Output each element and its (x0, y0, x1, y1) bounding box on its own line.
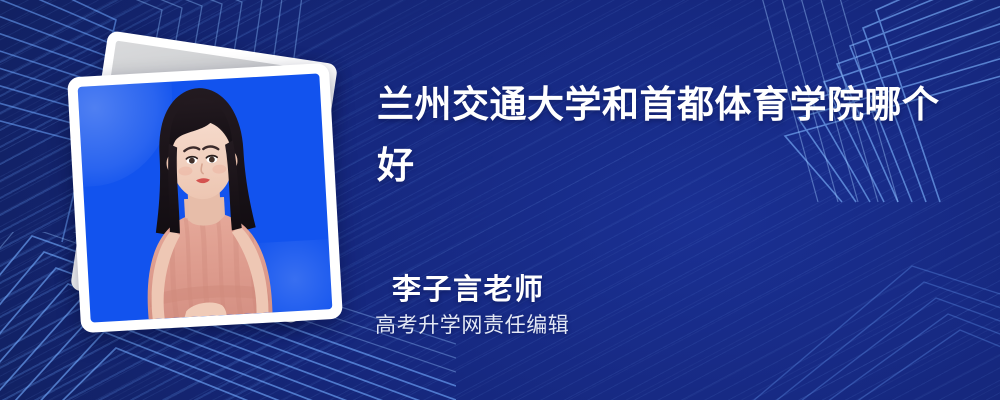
byline: 李子言老师 高考升学网责任编辑 (392, 272, 569, 340)
author-name: 李子言老师 (392, 272, 569, 308)
text-column: 兰州交通大学和首都体育学院哪个好 李子言老师 高考升学网责任编辑 (377, 0, 977, 400)
teacher-portrait-photo (78, 73, 333, 322)
photo-stack (60, 36, 350, 366)
portrait-subject-illustration (78, 74, 331, 323)
photo-frame-front (67, 63, 343, 333)
article-cover-banner: 兰州交通大学和首都体育学院哪个好 李子言老师 高考升学网责任编辑 (0, 0, 1000, 400)
editor-role: 高考升学网责任编辑 (375, 312, 569, 340)
page-title: 兰州交通大学和首都体育学院哪个好 (377, 74, 957, 196)
